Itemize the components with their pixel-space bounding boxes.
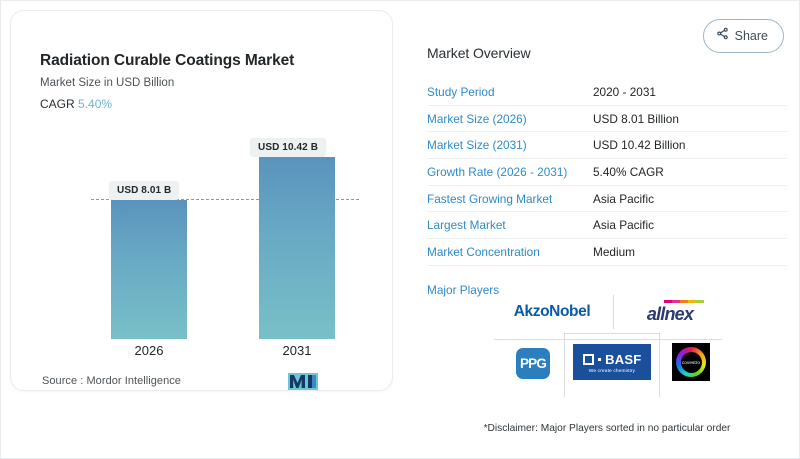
row-label-largest-market: Largest Market (427, 218, 593, 232)
basf-dot-icon (598, 358, 602, 362)
chart-card: Radiation Curable Coatings Market Market… (10, 10, 393, 391)
bar-2026[interactable] (111, 200, 187, 339)
bar-value-label-2031: USD 10.42 B (250, 138, 326, 157)
cagr-prefix: CAGR (40, 97, 75, 111)
table-row: Market Concentration Medium (427, 239, 787, 266)
logo-basf-mark: BASF (583, 352, 642, 367)
table-row: Fastest Growing Market Asia Pacific (427, 186, 787, 213)
logo-basf-tagline: We create chemistry (589, 369, 635, 374)
table-row: Market Size (2031) USD 10.42 Billion (427, 132, 787, 159)
logo-basf-text: BASF (605, 352, 641, 367)
row-value-growth-rate: 5.40% CAGR (593, 165, 664, 179)
row-value-market-size-2031: USD 10.42 Billion (593, 138, 685, 152)
table-row: Market Size (2026) USD 8.01 Billion (427, 106, 787, 133)
row-label-growth-rate: Growth Rate (2026 - 2031) (427, 165, 593, 179)
chart-title: Radiation Curable Coatings Market (40, 52, 294, 70)
disclaimer-text: *Disclaimer: Major Players sorted in no … (427, 423, 787, 434)
row-label-market-size-2026: Market Size (2026) (427, 112, 593, 126)
logo-covestro-box: covestro (672, 343, 710, 381)
cagr-value: 5.40% (78, 97, 112, 111)
logo-ppg: PPG (508, 343, 558, 383)
logo-divider-vertical-right (659, 333, 660, 397)
share-button-label: Share (735, 29, 768, 43)
major-players-logo-grid: AkzoNobel allnex PPG BASF We create chem… (494, 293, 722, 397)
row-label-study-period: Study Period (427, 85, 593, 99)
market-snapshot-page: Share Radiation Curable Coatings Market … (0, 0, 800, 459)
logo-divider-vertical-top (613, 295, 614, 329)
market-overview-panel: Market Overview Study Period 2020 - 2031… (427, 45, 787, 297)
bar-value-label-2026: USD 8.01 B (109, 181, 179, 200)
x-axis-tick-2031: 2031 (242, 343, 352, 358)
share-icon (716, 27, 729, 45)
table-row: Growth Rate (2026 - 2031) 5.40% CAGR (427, 159, 787, 186)
row-value-market-concentration: Medium (593, 245, 635, 259)
basf-square-icon (583, 354, 594, 365)
row-value-market-size-2026: USD 8.01 Billion (593, 112, 679, 126)
logo-covestro: covestro (667, 341, 715, 383)
table-row: Study Period 2020 - 2031 (427, 79, 787, 106)
mordor-intelligence-logo-icon (288, 373, 318, 390)
chart-subtitle: Market Size in USD Billion (40, 77, 174, 89)
logo-allnex: allnex (622, 293, 718, 331)
logo-allnex-text: allnex (647, 304, 693, 325)
bar-2031[interactable] (259, 157, 335, 339)
row-value-fastest-growing-market: Asia Pacific (593, 192, 654, 206)
row-label-fastest-growing-market: Fastest Growing Market (427, 192, 593, 206)
row-value-study-period: 2020 - 2031 (593, 85, 656, 99)
chart-source: Source : Mordor Intelligence (42, 375, 181, 387)
row-label-market-size-2031: Market Size (2031) (427, 138, 593, 152)
row-value-largest-market: Asia Pacific (593, 218, 654, 232)
logo-divider-vertical-left (564, 333, 565, 397)
table-row: Largest Market Asia Pacific (427, 212, 787, 239)
logo-covestro-text: covestro (682, 360, 700, 365)
row-label-market-concentration: Market Concentration (427, 245, 593, 259)
logo-ppg-text: PPG (516, 348, 550, 379)
logo-akzonobel-text: AkzoNobel (514, 303, 591, 321)
bar-chart-plot: USD 8.01 B USD 10.42 B 2026 2031 (33, 121, 373, 339)
logo-basf-box: BASF We create chemistry (573, 344, 651, 380)
x-axis-tick-2026: 2026 (94, 343, 204, 358)
logo-divider-basf-top (564, 333, 659, 334)
chart-cagr: CAGR 5.40% (40, 97, 112, 111)
logo-allnex-colorbar-icon (664, 300, 704, 303)
logo-akzonobel: AkzoNobel (498, 295, 606, 329)
market-overview-title: Market Overview (427, 45, 787, 61)
logo-basf: BASF We create chemistry (572, 339, 652, 385)
